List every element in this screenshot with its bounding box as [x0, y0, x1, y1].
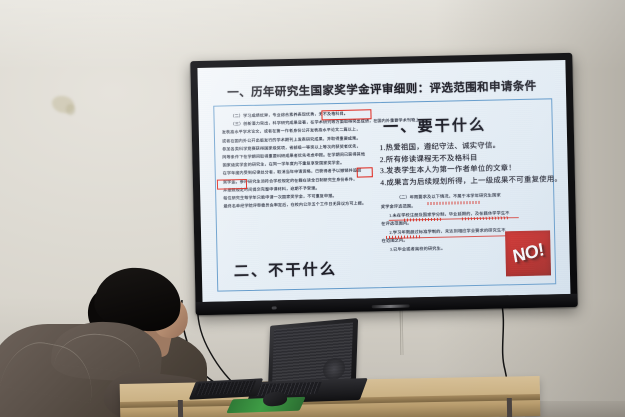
desk-leg: [178, 400, 183, 417]
laptop-keyboard[interactable]: [254, 382, 321, 396]
left-line: 最终名单经学院评审委员会审定后，在校内公示五个工作日无异议方可上报。: [223, 200, 370, 211]
wall-stain-secondary: [66, 104, 75, 115]
slide-right-column: 一、要干什么 1.热爱祖国，遵纪守法、诚实守信。 2.所有修读课程无不及格科目 …: [373, 99, 556, 287]
no-badge-label: NO!: [511, 239, 545, 267]
laptop-screen[interactable]: [272, 322, 353, 386]
laptop[interactable]: [245, 322, 370, 412]
tv-brand-logo: [371, 304, 409, 308]
slide-heading-section-one: 一、要干什么: [383, 112, 548, 137]
flat-panel-tv[interactable]: 一、历年研究生国家奖学金评审细则：评选范围和申请条件 （二）学习成绩优异，专业综…: [190, 53, 577, 315]
red-highlight-box: [357, 167, 373, 177]
no-badge: NO!: [505, 230, 551, 276]
red-highlight-box: [321, 109, 371, 120]
screenshot-scene: 一、历年研究生国家奖学金评审细则：评选范围和申请条件 （二）学习成绩优异，专业综…: [0, 0, 625, 417]
slide-title: 一、历年研究生国家奖学金评审细则：评选范围和申请条件: [208, 77, 556, 101]
slide-content-frame: （二）学习成绩优异，专业综合素养表现优秀，无不及格科目。 （三）创新潜力突出，科…: [213, 98, 556, 291]
slide-left-column: （二）学习成绩优异，专业综合素养表现优秀，无不及格科目。 （三）创新潜力突出，科…: [214, 103, 376, 290]
tv-power-led: [272, 306, 277, 309]
slide-heading-section-two: 二、不干什么: [234, 258, 338, 281]
presentation-slide: 一、历年研究生国家奖学金评审细则：评选范围和申请条件 （二）学习成绩优异，专业综…: [197, 60, 570, 302]
red-highlight-box: [217, 179, 247, 190]
desk-leg: [507, 398, 512, 417]
tv-screen[interactable]: 一、历年研究生国家奖学金评审细则：评选范围和申请条件 （二）学习成绩优异，专业综…: [197, 60, 570, 302]
